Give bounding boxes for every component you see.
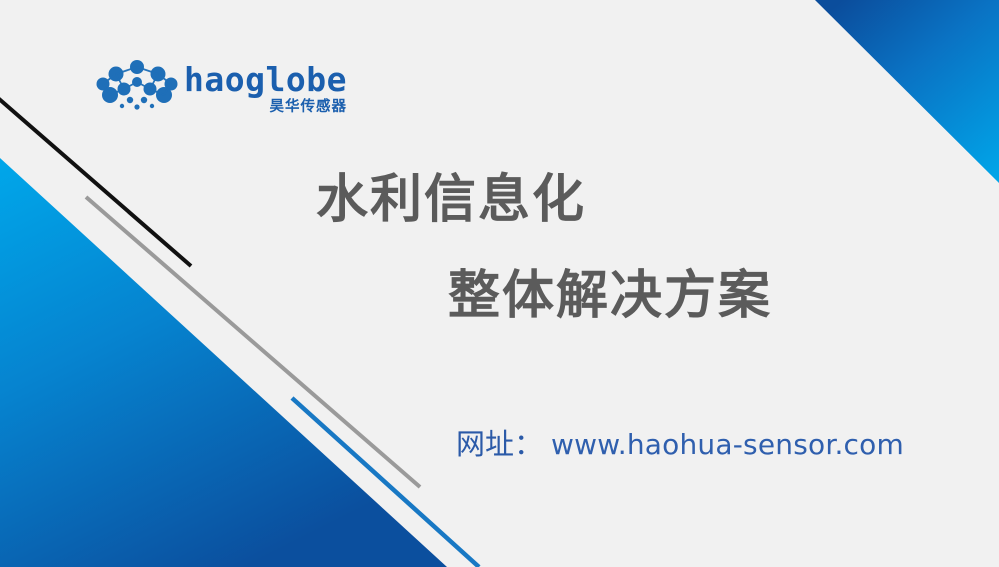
website-url[interactable]: www.haohua-sensor.com bbox=[551, 428, 904, 461]
logo-wordmark: haoglobe bbox=[184, 63, 347, 96]
title-slide: haoglobe 昊华传感器 水利信息化 整体解决方案 网址： www.haoh… bbox=[0, 0, 999, 567]
page-title-line-2: 整体解决方案 bbox=[448, 270, 772, 322]
logo-subtitle-chinese: 昊华传感器 bbox=[269, 100, 347, 115]
website-label: 网址： bbox=[456, 421, 543, 463]
page-title-line-1: 水利信息化 bbox=[316, 174, 586, 226]
logo-text-block: haoglobe 昊华传感器 bbox=[184, 61, 347, 115]
website-row: 网址： www.haohua-sensor.com bbox=[456, 421, 904, 463]
decor-right-triangle bbox=[815, 0, 999, 183]
company-logo: haoglobe 昊华传感器 bbox=[96, 57, 316, 119]
network-nodes-logo-icon bbox=[96, 60, 178, 116]
